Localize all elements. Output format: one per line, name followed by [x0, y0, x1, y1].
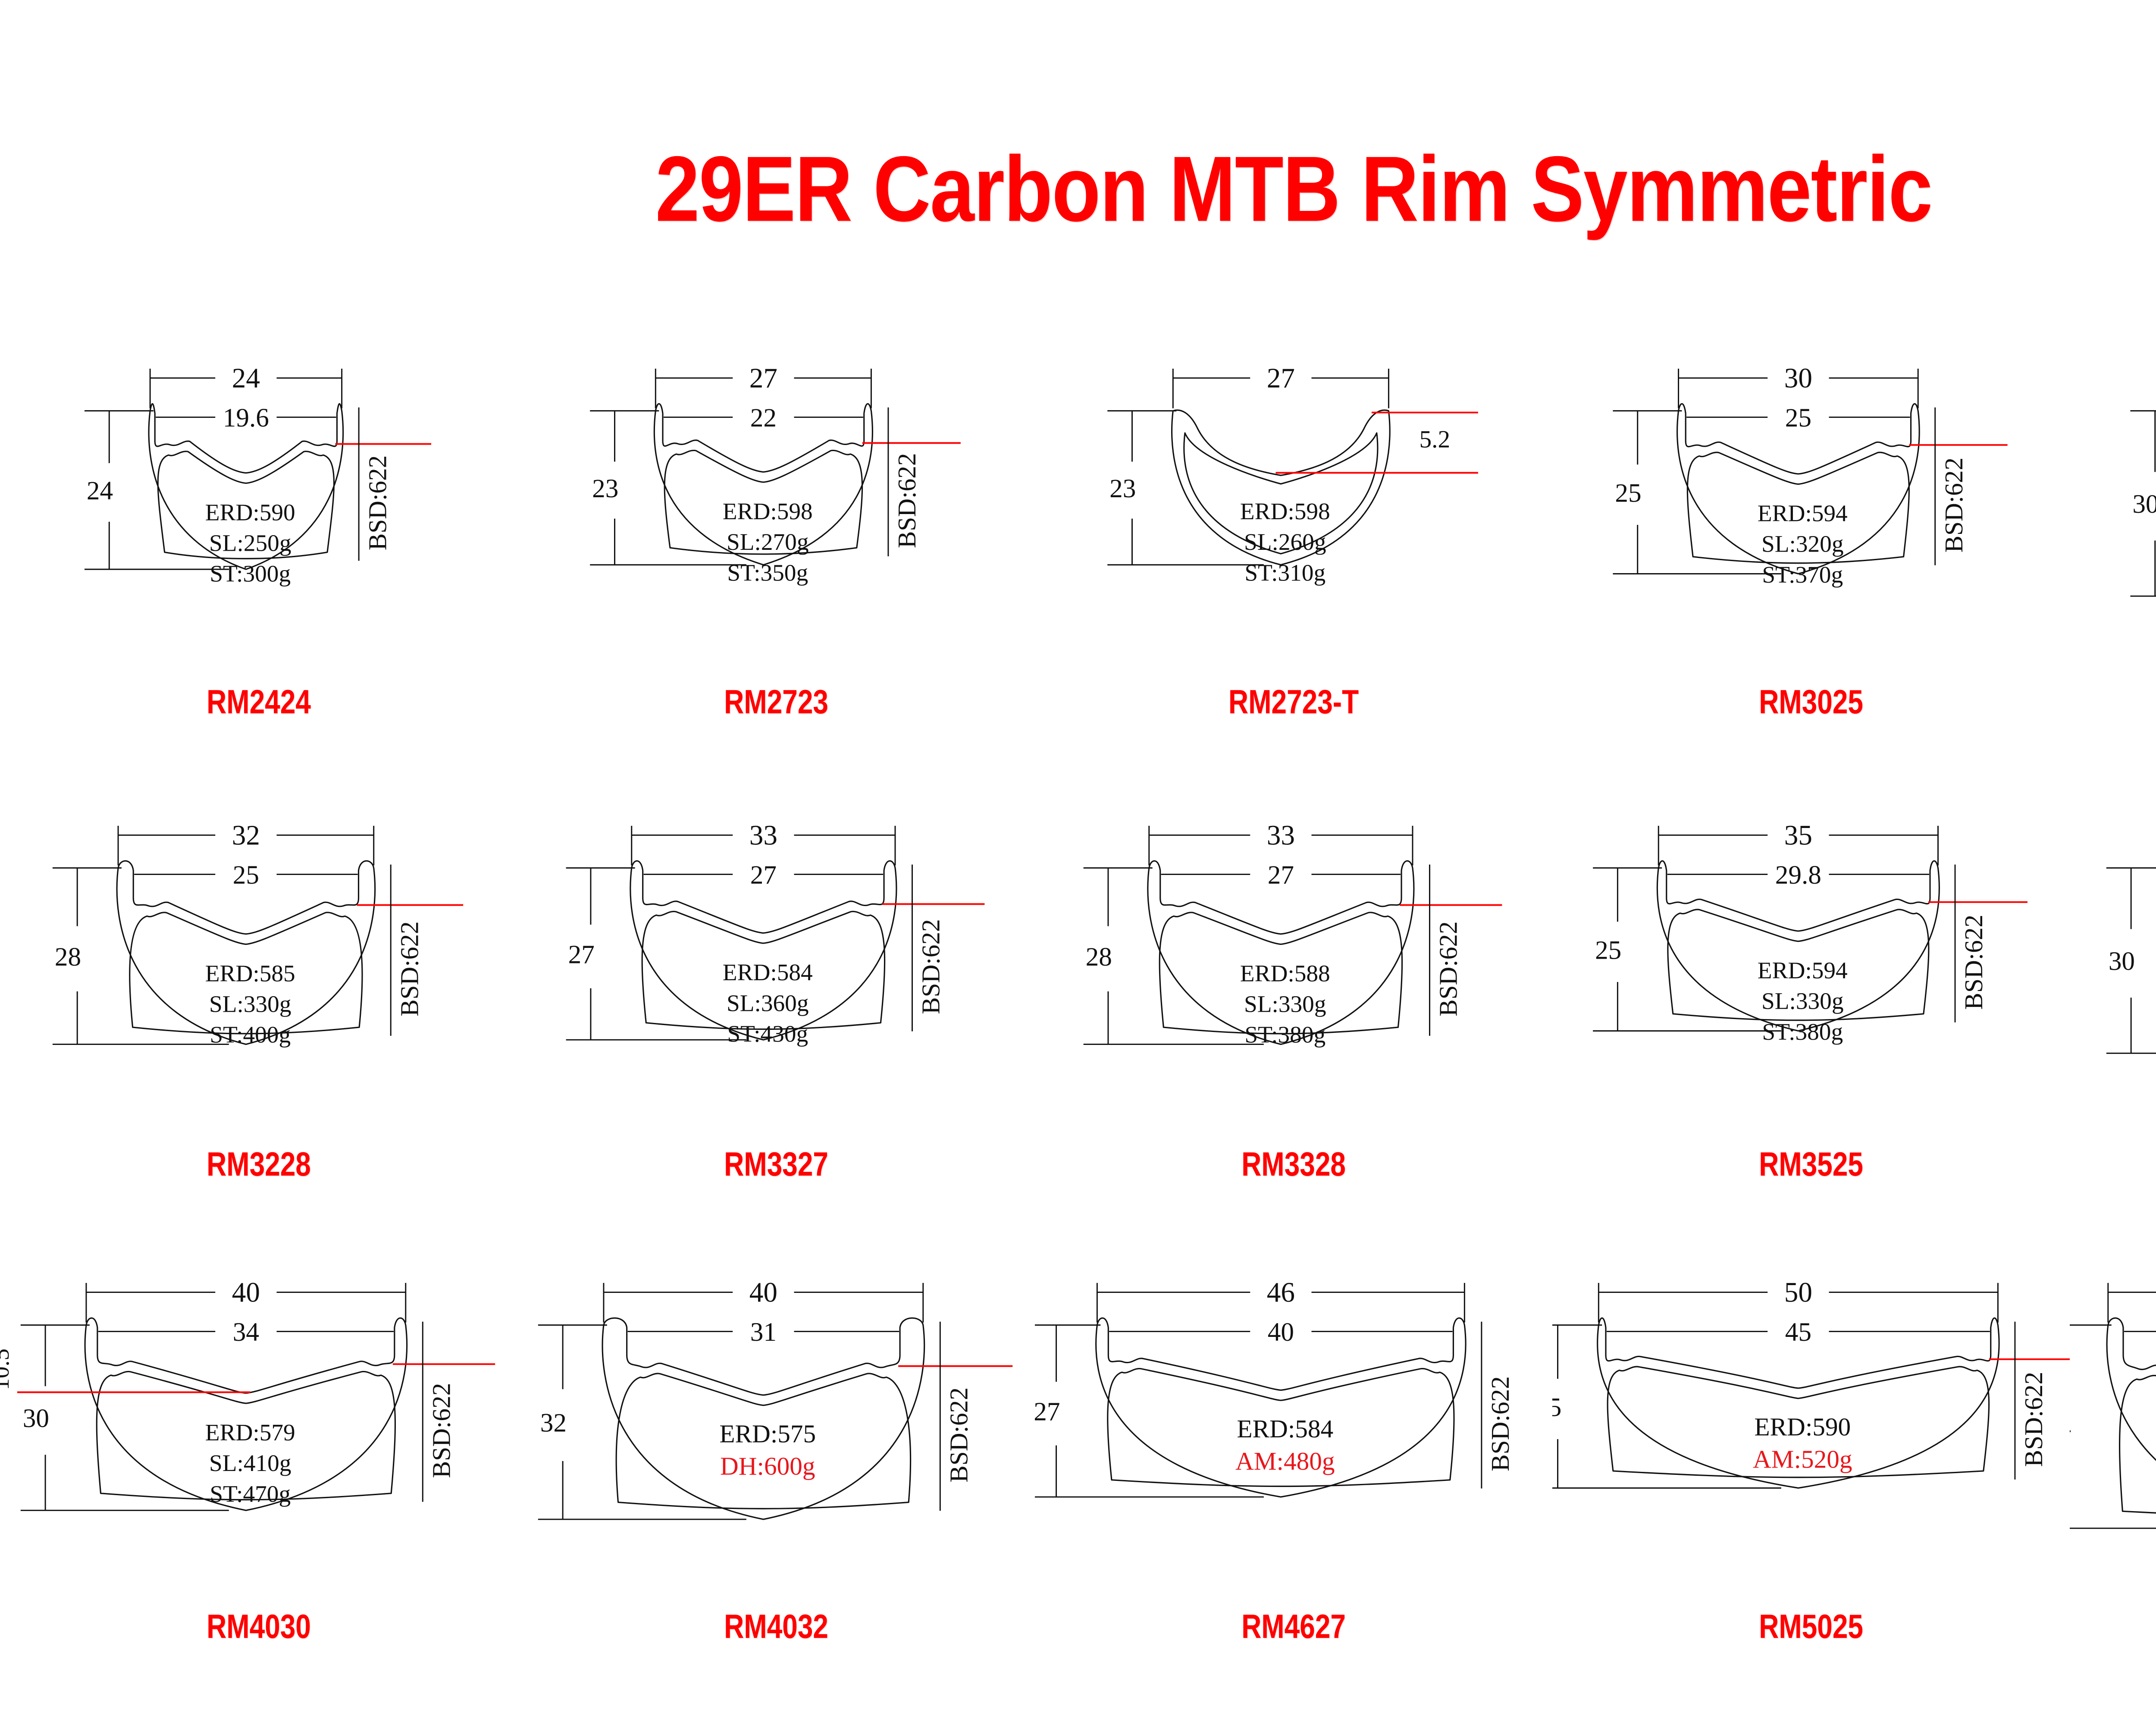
bsd-label: BSD:622 — [363, 455, 392, 551]
rim-card[interactable]: 302525BSD:622ERD:594SL:320gST:370gRM3025 — [1552, 328, 2070, 785]
rim-model-label: RM5025 — [1599, 1609, 2023, 1643]
rim-model-label: RM4032 — [564, 1609, 988, 1643]
rim-card[interactable]: 3529.825BSD:622ERD:594SL:330gST:380gRM35… — [1552, 785, 2070, 1242]
rim-cross-section-diagram: 524534BSD:622ERD:573AM:540g — [2070, 1242, 2156, 1591]
rim-model-label: RM4030 — [47, 1609, 471, 1643]
erd-value: ERD:598 — [723, 498, 813, 524]
inner-width-value: 29.8 — [1775, 860, 1821, 890]
inner-width-value: 34 — [233, 1317, 259, 1347]
erd-value: ERD:584 — [1237, 1414, 1333, 1443]
depth-value: 25 — [1595, 935, 1621, 965]
bsd-label: BSD:622 — [2019, 1372, 2048, 1467]
erd-value: ERD:590 — [1754, 1413, 1851, 1441]
depth-value: 27 — [1035, 1397, 1060, 1427]
outer-width-value: 27 — [749, 363, 777, 394]
rim-cross-section-diagram: 464027BSD:622ERD:584AM:480g — [1035, 1242, 1552, 1591]
depth-value: 23 — [592, 474, 618, 503]
depth-value: 23 — [1109, 474, 1136, 503]
weight-value: ST:300g — [210, 561, 291, 587]
outer-width-value: 50 — [1784, 1277, 1812, 1308]
erd-value: ERD:598 — [1240, 498, 1330, 524]
depth-value: 28 — [1086, 942, 1112, 972]
rim-cross-section-diagram: 302530BSD:622ERD:579SL:330gST:400g — [2070, 328, 2156, 677]
depth-value: 34 — [2070, 1413, 2071, 1442]
inner-width-value: 45 — [1785, 1317, 1811, 1347]
outer-width-value: 33 — [749, 820, 777, 851]
rim-model-label: RM3327 — [564, 1147, 988, 1181]
rim-card[interactable]: 50452512.5BSD:622ERD:590AM:520gRM5025 — [1552, 1242, 2070, 1699]
rim-cross-section-diagram: 2419.624BSD:622ERD:590SL:250gST:300g — [0, 328, 517, 677]
weight-value: ST:400g — [210, 1022, 291, 1048]
rim-row: 40343010.5BSD:622ERD:579SL:410gST:470gRM… — [0, 1242, 2156, 1699]
depth-value: 25 — [1615, 478, 1641, 508]
rim-model-label: RM5234 — [2116, 1609, 2156, 1643]
weight-value: SL:330g — [209, 991, 291, 1017]
weight-value: ST:370g — [1762, 561, 1843, 588]
weight-value: SL:270g — [727, 529, 809, 555]
outer-width-value: 33 — [1267, 820, 1295, 851]
erd-value: ERD:575 — [719, 1420, 816, 1448]
bsd-label: BSD:622 — [945, 1387, 973, 1483]
rim-cross-section-diagram: 322528BSD:622ERD:585SL:330gST:400g — [0, 785, 517, 1134]
erd-value: ERD:588 — [1240, 960, 1330, 986]
weight-value: ST:380g — [1762, 1019, 1843, 1045]
erd-value: ERD:579 — [205, 1419, 295, 1446]
bsd-label: BSD:622 — [1486, 1376, 1514, 1471]
rim-cross-section-diagram: 40343010.5BSD:622ERD:579SL:410gST:470g — [0, 1242, 517, 1591]
rim-card[interactable]: 272223BSD:622ERD:598SL:270gST:350gRM2723 — [517, 328, 1035, 785]
depth-value: 30 — [2132, 489, 2156, 519]
weight-value: SL:250g — [209, 530, 291, 556]
inner-width-value: 40 — [1268, 1317, 1294, 1347]
extra-dimension-value: 5.2 — [1420, 426, 1451, 453]
weight-value: SL:330g — [1244, 991, 1326, 1017]
rim-cross-section-diagram: 3529.825BSD:622ERD:594SL:330gST:380g — [1552, 785, 2070, 1134]
bsd-label: BSD:622 — [395, 921, 423, 1016]
rim-model-label: RM3025 — [1599, 685, 2023, 718]
bsd-label: BSD:622 — [427, 1383, 456, 1478]
outer-width-value: 27 — [1267, 363, 1295, 394]
weight-value: ST:470g — [210, 1480, 291, 1507]
weight-value: ST:310g — [1244, 559, 1326, 586]
weight-value: AM:480g — [1235, 1447, 1335, 1475]
depth-value: 30 — [2109, 947, 2135, 976]
rim-model-label: RM2723 — [564, 685, 988, 718]
inner-width-value: 19.6 — [223, 403, 269, 433]
rim-cross-section-diagram: 50452512.5BSD:622ERD:590AM:520g — [1552, 1242, 2070, 1591]
erd-value: ERD:590 — [205, 499, 295, 525]
erd-value: ERD:584 — [723, 959, 813, 985]
rim-cross-section-diagram: 272223BSD:622ERD:598SL:270gST:350g — [517, 328, 1035, 677]
weight-value: ST:350g — [727, 559, 808, 586]
weight-value: DH:600g — [720, 1452, 815, 1480]
weight-value: SL:260g — [1244, 529, 1326, 555]
inner-width-value: 25 — [233, 860, 259, 890]
inner-width-value: 31 — [750, 1317, 777, 1347]
depth-value: 32 — [540, 1408, 567, 1438]
bsd-label: BSD:622 — [1434, 921, 1463, 1016]
rim-row: 2419.624BSD:622ERD:590SL:250gST:300gRM24… — [0, 328, 2156, 785]
erd-value: ERD:585 — [205, 960, 295, 986]
rim-card[interactable]: 403132BSD:622ERD:575DH:600gRM4032 — [517, 1242, 1035, 1699]
inner-width-value: 27 — [750, 860, 777, 890]
depth-value: 24 — [87, 476, 113, 505]
rim-cross-section-diagram: 302525BSD:622ERD:594SL:320gST:370g — [1552, 328, 2070, 677]
rim-card[interactable]: 2419.624BSD:622ERD:590SL:250gST:300gRM24… — [0, 328, 517, 785]
rim-card[interactable]: 363030BSD:622ERD:579SL:390gST:450gRM3630 — [2070, 785, 2156, 1242]
bsd-label: BSD:622 — [1940, 458, 1968, 553]
weight-value: ST:430g — [727, 1020, 808, 1047]
depth-value: 25 — [1552, 1393, 1561, 1422]
rim-card[interactable]: 464027BSD:622ERD:584AM:480gRM4627 — [1035, 1242, 1552, 1699]
rim-cross-section-diagram: 332728BSD:622ERD:588SL:330gST:380g — [1035, 785, 1552, 1134]
rim-model-label: RM3328 — [1081, 1147, 1506, 1181]
page-title: 29ER Carbon MTB Rim Symmetric — [181, 142, 2156, 235]
outer-width-value: 35 — [1784, 820, 1812, 851]
inner-width-value: 22 — [750, 403, 777, 433]
depth-value: 27 — [568, 940, 595, 969]
rim-card[interactable]: 332727BSD:622ERD:584SL:360gST:430gRM3327 — [517, 785, 1035, 1242]
outer-width-value: 40 — [749, 1277, 777, 1308]
outer-width-value: 40 — [232, 1277, 260, 1308]
rim-model-label: RM4627 — [1081, 1609, 1506, 1643]
inner-width-value: 27 — [1268, 860, 1294, 890]
weight-value: SL:410g — [209, 1450, 291, 1476]
rim-model-label: RM2424 — [47, 685, 471, 718]
erd-value: ERD:594 — [1758, 500, 1848, 527]
rim-card[interactable]: 524534BSD:622ERD:573AM:540gRM5234 — [2070, 1242, 2156, 1699]
rim-row: 322528BSD:622ERD:585SL:330gST:400gRM3228… — [0, 785, 2156, 1242]
rim-cross-section-diagram: 332727BSD:622ERD:584SL:360gST:430g — [517, 785, 1035, 1134]
inner-width-value: 25 — [1785, 403, 1811, 433]
outer-width-value: 46 — [1267, 1277, 1295, 1308]
rim-cross-section-diagram: 27235.2ERD:598SL:260gST:310g — [1035, 328, 1552, 677]
rim-model-label: RM3525 — [1599, 1147, 2023, 1181]
rim-model-label: RM3228 — [47, 1147, 471, 1181]
rim-cross-section-diagram: 363030BSD:622ERD:579SL:390gST:450g — [2070, 785, 2156, 1134]
depth-value: 30 — [23, 1404, 49, 1433]
rim-model-label: RM3030 — [2116, 685, 2156, 718]
weight-value: SL:360g — [727, 990, 809, 1016]
rim-model-label: RM3630 — [2116, 1147, 2156, 1181]
depth-value: 28 — [55, 942, 81, 972]
spec-sheet: 29ER Carbon MTB Rim Symmetric 2419.624BS… — [0, 0, 2156, 1725]
outer-width-value: 24 — [232, 363, 260, 394]
rim-card[interactable]: 322528BSD:622ERD:585SL:330gST:400gRM3228 — [0, 785, 517, 1242]
rim-cross-section-diagram: 403132BSD:622ERD:575DH:600g — [517, 1242, 1035, 1591]
weight-value: SL:330g — [1761, 988, 1844, 1014]
bsd-label: BSD:622 — [1959, 915, 1988, 1010]
rim-card[interactable]: 332728BSD:622ERD:588SL:330gST:380gRM3328 — [1035, 785, 1552, 1242]
rim-card[interactable]: 40343010.5BSD:622ERD:579SL:410gST:470gRM… — [0, 1242, 517, 1699]
extra-dimension-value: 10.5 — [0, 1349, 14, 1390]
bsd-label: BSD:622 — [917, 919, 945, 1014]
weight-value: SL:320g — [1761, 531, 1844, 557]
erd-value: ERD:594 — [1758, 957, 1848, 984]
weight-value: ST:380g — [1244, 1022, 1326, 1048]
weight-value: AM:520g — [1753, 1445, 1852, 1474]
outer-width-value: 30 — [1784, 363, 1812, 394]
rim-model-label: RM2723-T — [1081, 685, 1506, 718]
rim-card[interactable]: 302530BSD:622ERD:579SL:330gST:400gRM3030 — [2070, 328, 2156, 785]
bsd-label: BSD:622 — [893, 453, 921, 548]
outer-width-value: 32 — [232, 820, 260, 851]
rim-card[interactable]: 27235.2ERD:598SL:260gST:310gRM2723-T — [1035, 328, 1552, 785]
rim-grid: 2419.624BSD:622ERD:590SL:250gST:300gRM24… — [0, 328, 2156, 1699]
